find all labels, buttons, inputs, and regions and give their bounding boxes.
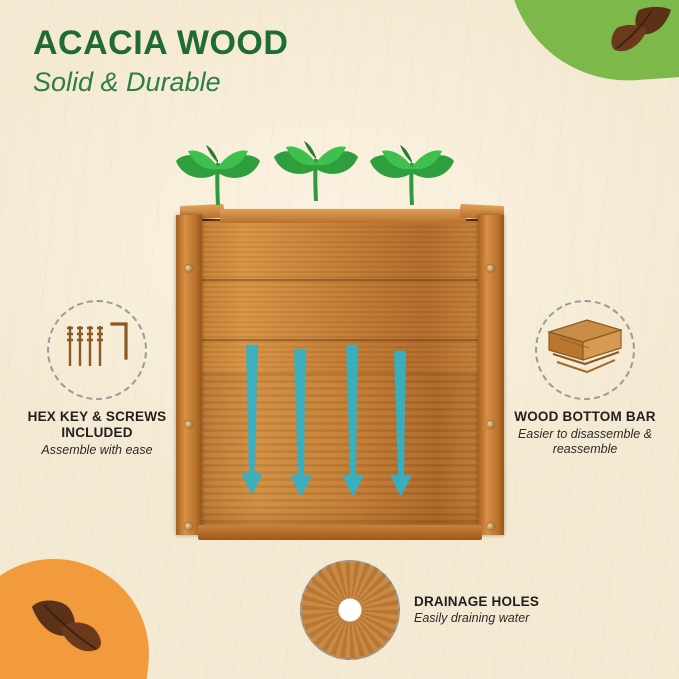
screw-icon [185, 523, 192, 530]
feature-wood-bottom-bar: WOOD BOTTOM BAR Easier to disassemble & … [505, 300, 665, 457]
feature-subtitle: Easily draining water [414, 611, 539, 626]
screw-icon [487, 523, 494, 530]
screw-icon [185, 265, 192, 272]
planter-corner-post-right [478, 215, 504, 535]
screw-icon [185, 421, 192, 428]
planter-bottom-bar [198, 525, 482, 540]
drainage-hole-disc-icon [300, 560, 400, 660]
feature-subtitle: Assemble with ease [22, 443, 172, 458]
screws-and-hex-key-icon [60, 318, 134, 382]
wood-bottom-bar-icon [543, 314, 627, 386]
page-title: ACACIA WOOD [33, 26, 288, 62]
planter-top-rail [220, 209, 466, 223]
drainage-arrows [234, 345, 434, 525]
product-infographic: ACACIA WOOD Solid & Durable [0, 0, 679, 679]
seedling-icon [270, 141, 362, 203]
hex-key-screws-circle [47, 300, 147, 400]
feature-title: DRAINAGE HOLES [414, 594, 539, 610]
seedling-icon [366, 145, 458, 207]
feature-subtitle: Easier to disassemble & reassemble [505, 427, 665, 457]
screw-icon [487, 421, 494, 428]
planter-illustration [176, 205, 504, 540]
seedling-icon [172, 145, 264, 207]
leaf-icon-top-right [599, 2, 673, 64]
feature-drainage-holes: DRAINAGE HOLES Easily draining water [300, 560, 539, 660]
screw-icon [487, 265, 494, 272]
planter-corner-post-left [176, 215, 202, 535]
page-subtitle: Solid & Durable [33, 68, 288, 96]
feature-title: HEX KEY & SCREWS INCLUDED [22, 409, 172, 441]
headline-block: ACACIA WOOD Solid & Durable [33, 26, 288, 96]
feature-hex-key-screws: HEX KEY & SCREWS INCLUDED Assemble with … [22, 300, 172, 458]
leaf-icon-bottom-left [18, 591, 114, 675]
feature-title: WOOD BOTTOM BAR [505, 409, 665, 425]
wood-bottom-bar-circle [535, 300, 635, 400]
